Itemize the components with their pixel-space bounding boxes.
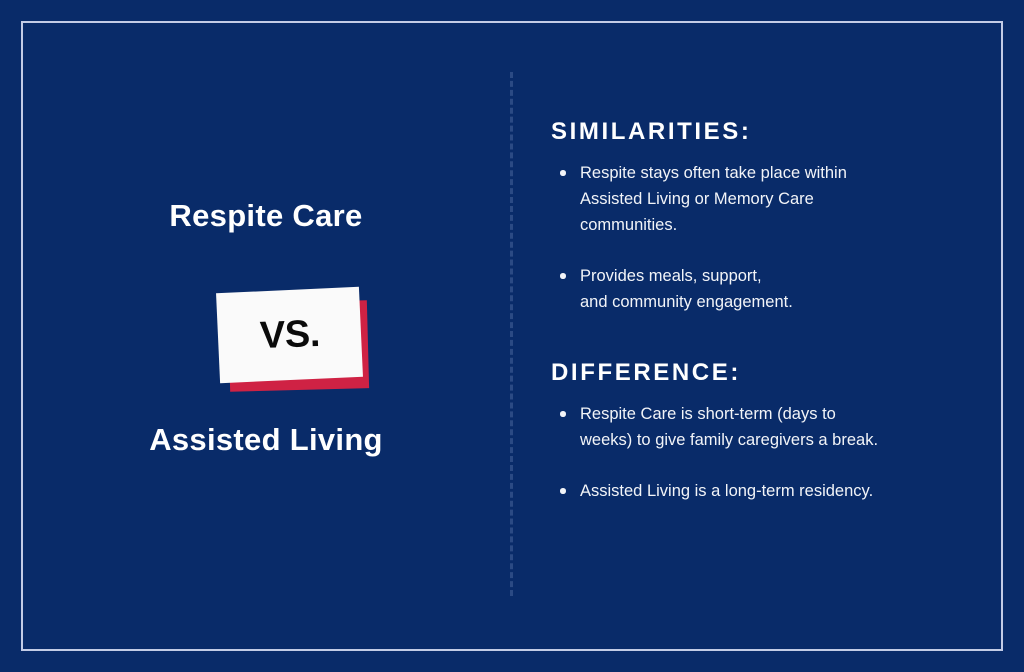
bullet-dot-icon [560, 170, 566, 176]
comparison-right-column: SIMILARITIES: Respite stays often take p… [551, 118, 971, 504]
comparison-slide: Respite Care VS. Assisted Living SIMILAR… [0, 0, 1024, 672]
list-item: Assisted Living is a long-term residency… [551, 478, 971, 504]
similarities-bullet-list: Respite stays often take place within As… [551, 160, 971, 315]
term-a-title: Respite Care [22, 198, 510, 234]
comparison-left-column: Respite Care VS. Assisted Living [22, 22, 510, 650]
bullet-line: weeks) to give family caregivers a break… [580, 427, 971, 453]
bullet-line: communities. [580, 212, 971, 238]
bullet-line: Respite stays often take place within [580, 160, 971, 186]
bullet-dot-icon [560, 411, 566, 417]
bullet-line: Respite Care is short-term (days to [580, 401, 971, 427]
versus-label: VS. [259, 315, 320, 355]
bullet-line: and community engagement. [580, 289, 971, 315]
bullet-line: Provides meals, support, [580, 263, 971, 289]
versus-card: VS. [216, 287, 363, 383]
bullet-dot-icon [560, 488, 566, 494]
list-item: Provides meals, support, and community e… [551, 263, 971, 315]
section-heading-difference: DIFFERENCE: [551, 359, 971, 387]
section-heading-similarities: SIMILARITIES: [551, 118, 971, 146]
column-divider [510, 72, 513, 596]
list-item: Respite stays often take place within As… [551, 160, 971, 238]
list-item: Respite Care is short-term (days to week… [551, 401, 971, 453]
bullet-dot-icon [560, 273, 566, 279]
versus-badge: VS. [218, 290, 368, 394]
term-b-title: Assisted Living [22, 422, 510, 458]
bullet-line: Assisted Living is a long-term residency… [580, 478, 971, 504]
bullet-line: Assisted Living or Memory Care [580, 186, 971, 212]
difference-bullet-list: Respite Care is short-term (days to week… [551, 401, 971, 504]
